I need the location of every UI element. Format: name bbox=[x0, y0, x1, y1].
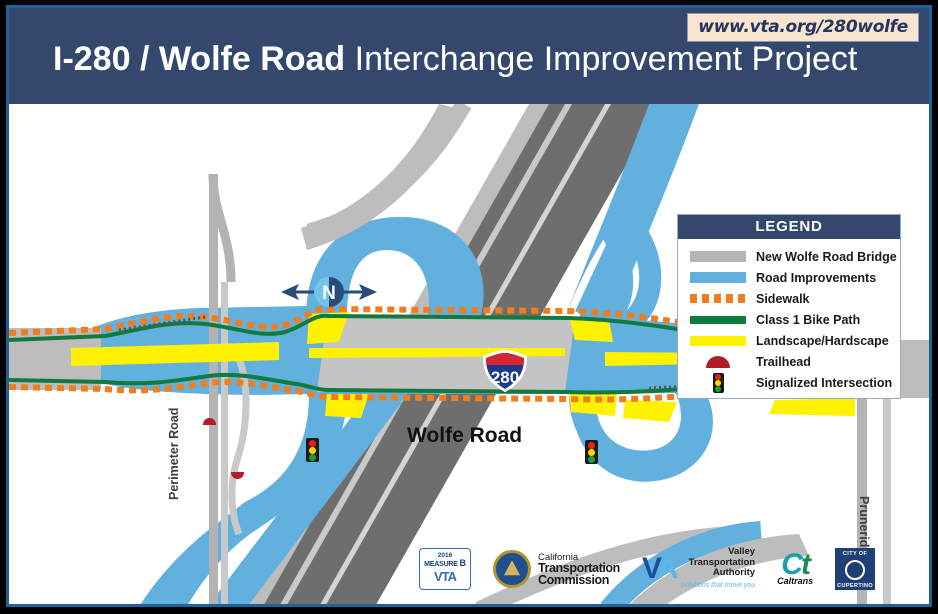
measure-b-agency: VTA bbox=[420, 569, 470, 584]
legend-items: New Wolfe Road Bridge Road Improvements … bbox=[678, 239, 900, 393]
legend-item-class-1-bike-path: Class 1 Bike Path bbox=[678, 309, 900, 330]
poster-frame: www.vta.org/280wolfe I-280 / Wolfe Road … bbox=[6, 5, 932, 607]
page-title-strong: I-280 / Wolfe Road bbox=[53, 40, 345, 78]
legend-label: Signalized Intersection bbox=[756, 376, 892, 390]
city-of-cupertino-logo: CITY OF CUPERTINO bbox=[835, 548, 875, 590]
measure-b-word: MEASURE bbox=[424, 561, 458, 568]
california-transportation-commission-logo: California Transportation Commission bbox=[493, 550, 620, 588]
perimeter-road-map-label: Perimeter Road bbox=[167, 408, 181, 500]
signal-swatch-icon bbox=[690, 373, 746, 393]
measure-b-logo: 2016 MEASURE B VTA bbox=[419, 548, 471, 590]
legend-label: Landscape/Hardscape bbox=[756, 334, 889, 348]
vta-line-1: Valley bbox=[680, 547, 755, 558]
header-bar: www.vta.org/280wolfe I-280 / Wolfe Road … bbox=[9, 8, 929, 104]
vta-logo: VA Valley Transportation Authority Solut… bbox=[642, 547, 755, 591]
ctc-seal-icon bbox=[493, 550, 531, 588]
caltrans-logo: Ct Caltrans bbox=[777, 552, 813, 586]
road-swatch-icon bbox=[690, 272, 746, 283]
signalized-intersection-east bbox=[585, 440, 598, 464]
bike-path-swatch-icon bbox=[690, 316, 746, 324]
legend-label: New Wolfe Road Bridge bbox=[756, 250, 897, 264]
interstate-shield-icon: 280 bbox=[482, 350, 528, 392]
partner-logos: 2016 MEASURE B VTA California Transporta… bbox=[419, 540, 875, 598]
page-title-light: Interchange Improvement Project bbox=[355, 40, 858, 78]
project-url-badge[interactable]: www.vta.org/280wolfe bbox=[687, 13, 919, 42]
ctc-line-3: Commission bbox=[538, 575, 620, 587]
cupertino-line-1: CITY OF bbox=[835, 551, 875, 557]
poster-root: www.vta.org/280wolfe I-280 / Wolfe Road … bbox=[0, 0, 938, 614]
caltrans-wordmark: Caltrans bbox=[777, 576, 813, 586]
trailhead-swatch-icon bbox=[690, 356, 746, 368]
legend-label: Sidewalk bbox=[756, 292, 810, 306]
legend-item-road-improvements: Road Improvements bbox=[678, 267, 900, 288]
page-title: I-280 / Wolfe Road Interchange Improveme… bbox=[53, 40, 857, 79]
legend-item-sidewalk: Sidewalk bbox=[678, 288, 900, 309]
shield-route-number: 280 bbox=[491, 368, 519, 387]
legend-panel: LEGEND New Wolfe Road Bridge Road Improv… bbox=[677, 214, 901, 399]
measure-b-letter: B bbox=[460, 558, 466, 568]
legend-label: Road Improvements bbox=[756, 271, 876, 285]
legend-item-signalized-intersection: Signalized Intersection bbox=[678, 372, 900, 393]
legend-item-new-wolfe-road-bridge: New Wolfe Road Bridge bbox=[678, 246, 900, 267]
legend-label: Class 1 Bike Path bbox=[756, 313, 860, 327]
vta-mark-icon: VA bbox=[642, 555, 675, 583]
sidewalk-swatch-icon bbox=[690, 294, 746, 303]
cupertino-line-2: CUPERTINO bbox=[835, 583, 875, 589]
legend-item-landscape-hardscape: Landscape/Hardscape bbox=[678, 330, 900, 351]
legend-label: Trailhead bbox=[756, 355, 811, 369]
north-arrow-letter: N bbox=[322, 283, 336, 304]
legend-item-trailhead: Trailhead bbox=[678, 351, 900, 372]
trailhead-marker-north bbox=[203, 418, 216, 425]
caltrans-mark-icon: Ct bbox=[781, 552, 809, 578]
pruneridge-ave-line-2 bbox=[883, 396, 891, 604]
legend-title: LEGEND bbox=[678, 215, 900, 239]
measure-b-text: MEASURE B bbox=[420, 559, 470, 569]
landscape-swatch-icon bbox=[690, 336, 746, 346]
vta-line-3: Authority bbox=[680, 568, 755, 579]
perimeter-road-line-2 bbox=[221, 282, 228, 604]
interchange-map: Wolfe Road Perimeter Road Pruneridge Ave… bbox=[9, 104, 929, 604]
cupertino-ring-icon bbox=[845, 560, 865, 580]
bridge-swatch-icon bbox=[690, 251, 746, 262]
wolfe-road-map-label: Wolfe Road bbox=[407, 424, 522, 448]
signalized-intersection-west bbox=[306, 438, 319, 462]
perimeter-road-line bbox=[209, 174, 218, 604]
north-arrow-icon: N bbox=[281, 272, 377, 312]
vta-tagline: Solutions that move you bbox=[680, 581, 755, 592]
